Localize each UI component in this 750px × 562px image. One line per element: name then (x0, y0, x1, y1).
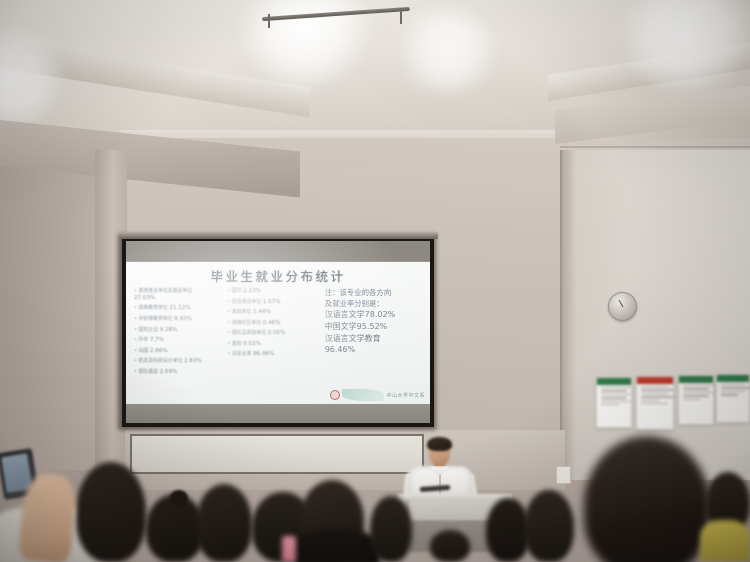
slide-column-left: 其他事业单位及基层单位 27.03% 高等教育单位 21.12% 中初等教育单位… (134, 288, 225, 379)
slide-bullet: 高等教育单位 21.12% (134, 305, 225, 313)
slide-bullet: 医疗 2.23% (227, 288, 322, 296)
notice-text-line (641, 403, 668, 404)
notice-text-line (641, 386, 668, 387)
slide-logo-text: 中山大学中文系 (386, 392, 425, 399)
audience-head (370, 496, 412, 562)
bullet-value: 0.02% (243, 341, 261, 347)
notice-text-line (683, 399, 701, 400)
slide-bullet: 中初等教育单位 8.93% (134, 316, 225, 324)
bullet-value: 2.83% (184, 358, 202, 364)
notice-board-4[interactable] (716, 374, 750, 423)
notice-text-line (641, 400, 660, 401)
bullet-value: 1.57% (263, 299, 281, 305)
bullet-label: 民营事业单位 (232, 299, 261, 305)
audience-head (76, 462, 146, 562)
notice-board-3[interactable] (678, 375, 714, 425)
audience-head (430, 530, 470, 562)
audience-head (196, 484, 252, 562)
notice-text-line (601, 394, 632, 395)
notice-text-line (601, 397, 627, 398)
light-switch-plate[interactable] (556, 466, 571, 484)
notice-text-line (601, 401, 632, 402)
screen-roller-bar (120, 232, 438, 239)
bullet-label: 城镇社区单位 (232, 320, 261, 326)
slide-bullet: 出国 2.86% (134, 348, 225, 356)
slide-columns: 其他事业单位及基层单位 27.03% 高等教育单位 21.12% 中初等教育单位… (134, 288, 424, 379)
notice-text-line (683, 395, 709, 396)
bullet-label: 机关及科研设计单位 (138, 358, 182, 364)
slide-bullet: 部队及其他单位 0.05% (227, 330, 322, 338)
wall-seam-vertical (560, 150, 562, 470)
bullet-value: 21.12% (169, 305, 190, 311)
notice-text-line (721, 387, 750, 388)
notice-text-line (601, 387, 632, 388)
bullet-label: 医疗 (232, 288, 242, 294)
notice-header-3 (679, 376, 713, 383)
bullet-value: 2.59% (160, 369, 178, 375)
slide-bullet: 金融单位 1.44% (227, 309, 322, 317)
lecture-hall-photo: 毕业生就业分布统计 其他事业单位及基层单位 27.03% 高等教育单位 21.1… (0, 0, 750, 562)
notice-text-line (721, 384, 745, 385)
bullet-label: 中初等教育单位 (138, 316, 172, 322)
bullet-value: 1.44% (253, 309, 271, 315)
whiteboard (130, 434, 424, 474)
slide-note: 注：该专业的各方向 及就业率分别是： 汉语言文学78.02% 中国文学95.52… (325, 288, 424, 356)
slide-title: 毕业生就业分布统计 (126, 266, 430, 285)
notice-text-line (683, 388, 709, 389)
notice-text-line (641, 393, 668, 394)
lamp-hanger-1 (268, 14, 270, 28)
notice-text-line (683, 392, 714, 393)
slide-bullet: 机关及科研设计单位 2.83% (134, 358, 225, 366)
bullet-value: 2.23% (243, 288, 261, 294)
notice-text-line (721, 391, 745, 392)
bullet-label: 总就业率 (232, 351, 252, 357)
seal-icon (330, 390, 340, 400)
note-line-6: 96.46% (325, 344, 424, 356)
presenter-hair (427, 437, 452, 451)
note-line-3: 汉语言文学78.02% (325, 309, 424, 321)
bullet-label: 部队及其他单位 (232, 330, 266, 336)
bullet-label: 国有企业 (138, 327, 158, 333)
notice-header-4 (717, 375, 749, 382)
bullet-value: 96.46% (253, 351, 274, 357)
notice-board-2[interactable] (636, 376, 674, 430)
slide-bullet: 总就业率 96.46% (227, 351, 322, 359)
right-wall (560, 150, 750, 480)
slide-bullet: 其他 0.02% (227, 341, 322, 349)
bullet-value: 9.28% (160, 327, 178, 333)
slide-bullet: 升学 7.7% (134, 337, 225, 345)
audience-torso-dark (294, 530, 380, 562)
bullet-label: 部队基层 (138, 369, 158, 375)
note-line-5: 汉语言文学教育 (325, 333, 424, 345)
slide-column-middle: 医疗 2.23% 民营事业单位 1.57% 金融单位 1.44% 城镇社区单位 … (227, 288, 322, 379)
water-bottle (282, 536, 296, 562)
notice-text-line (601, 404, 619, 405)
slide-bullet: 城镇社区单位 0.46% (227, 320, 322, 328)
wall-clock (608, 292, 637, 321)
bullet-label: 其他 (232, 341, 242, 347)
bullet-label: 升学 (138, 337, 148, 343)
slide-bullet: 部队基层 2.59% (134, 369, 225, 377)
notice-board-1[interactable] (596, 377, 632, 428)
notice-text-line (683, 385, 714, 386)
notice-header-2 (637, 377, 673, 384)
notice-text-line (721, 394, 738, 395)
audience-yellow-shirt (700, 520, 750, 562)
bullet-label: 金融单位 (232, 309, 252, 315)
bullet-value: 27.03% (134, 295, 155, 301)
presentation-slide: 毕业生就业分布统计 其他事业单位及基层单位 27.03% 高等教育单位 21.1… (126, 262, 430, 404)
audience-head (524, 490, 574, 562)
audience-head (170, 490, 188, 506)
notice-text-line (641, 389, 673, 390)
wall-seam-horizontal (560, 146, 750, 148)
slide-bullet: 其他事业单位及基层单位 27.03% (134, 288, 225, 303)
bullet-label: 其他事业单位及基层单位 (138, 288, 192, 294)
notice-text-line (601, 390, 627, 391)
university-emblem-icon (342, 389, 384, 401)
bullet-value: 0.05% (268, 330, 286, 336)
bullet-value: 2.86% (150, 348, 168, 354)
note-line-4: 中国文学95.52% (325, 321, 424, 333)
bullet-value: 0.46% (263, 320, 281, 326)
bullet-label: 出国 (138, 348, 148, 354)
notice-header-1 (597, 378, 631, 385)
slide-column-note: 注：该专业的各方向 及就业率分别是： 汉语言文学78.02% 中国文学95.52… (325, 288, 424, 379)
note-line-2: 及就业率分别是： (325, 299, 424, 310)
bullet-label: 高等教育单位 (138, 305, 167, 311)
note-line-1: 注：该专业的各方向 (325, 288, 424, 299)
bullet-value: 8.93% (174, 316, 192, 322)
bullet-value: 7.7% (150, 337, 164, 343)
lamp-hanger-2 (400, 8, 402, 24)
slide-logo: 中山大学中文系 (330, 389, 425, 401)
notice-text-line (641, 396, 673, 397)
slide-bullet: 民营事业单位 1.57% (227, 299, 322, 307)
slide-bullet: 国有企业 9.28% (134, 327, 225, 335)
